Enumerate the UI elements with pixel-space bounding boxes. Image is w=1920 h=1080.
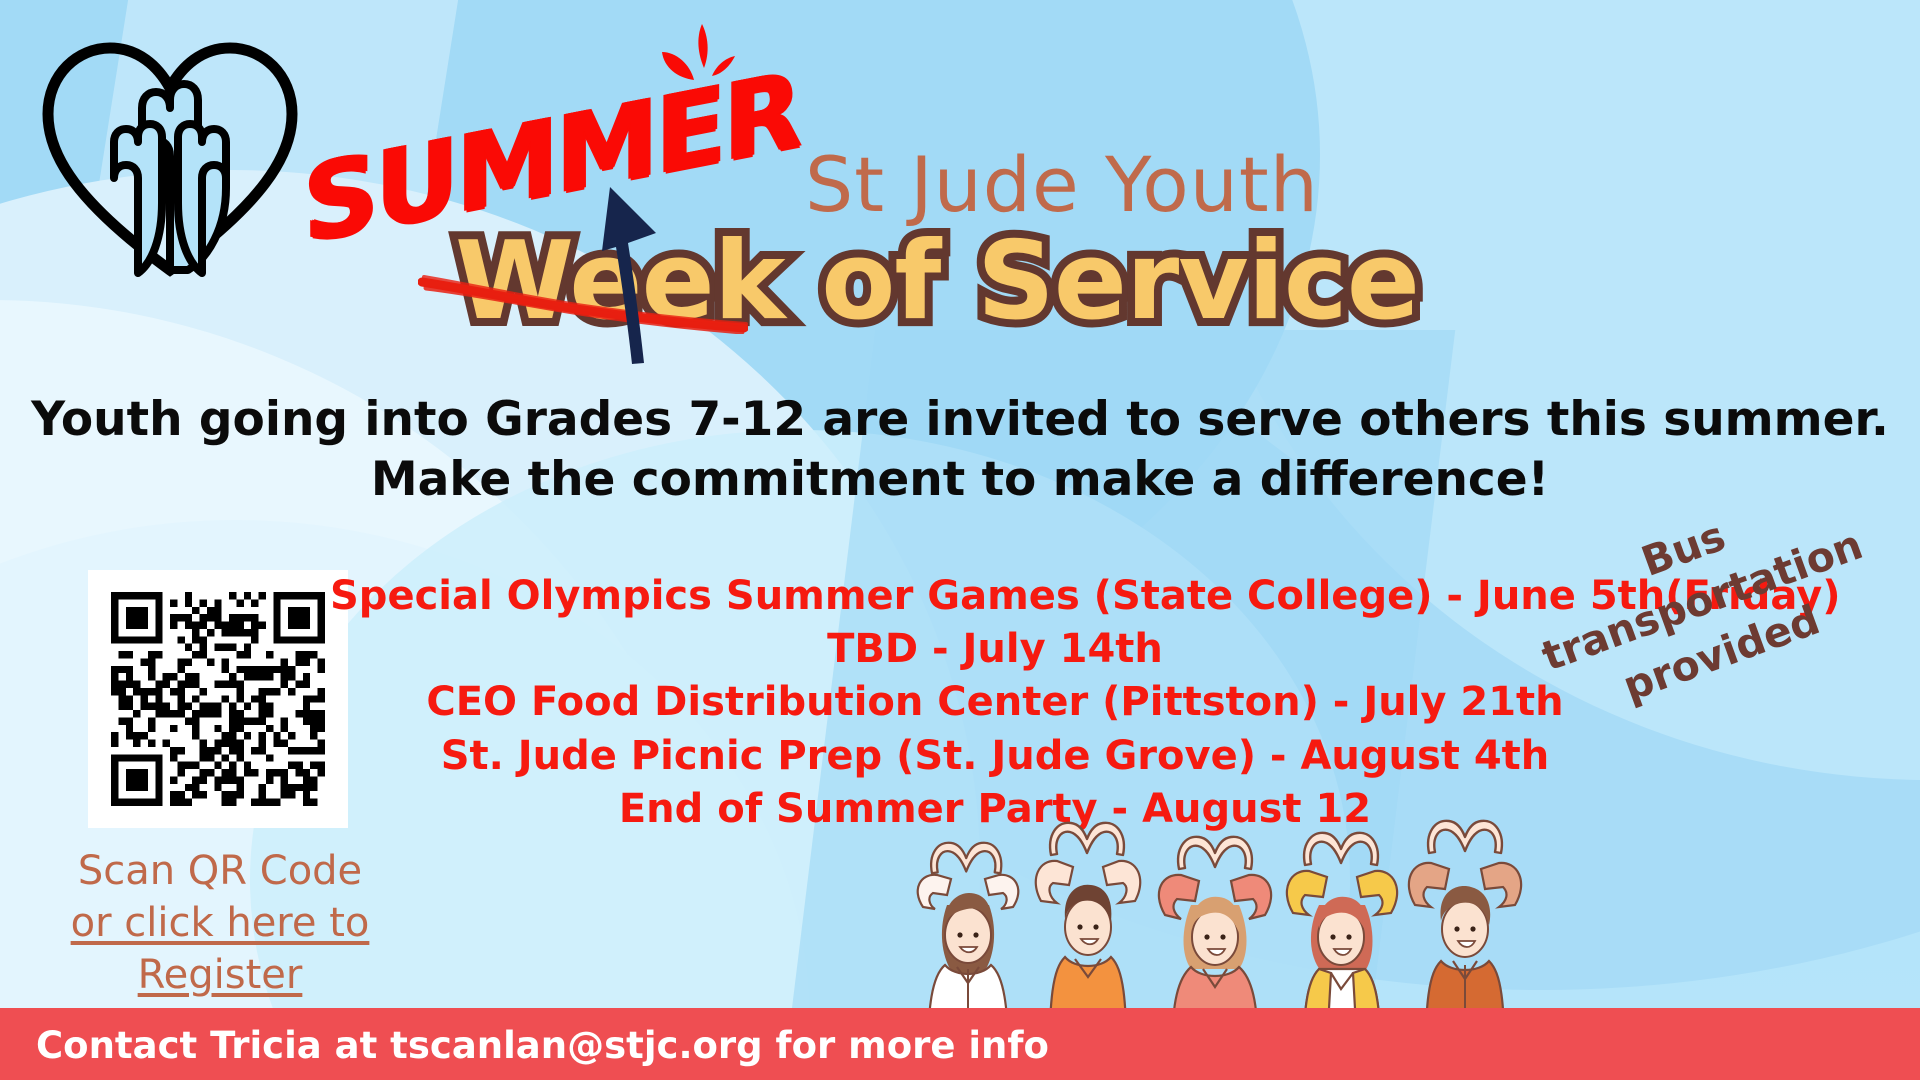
heart-with-raised-hands-icon (38, 38, 303, 278)
body-line-1: Youth going into Grades 7-12 are invited… (0, 390, 1920, 450)
page-title: Week of Service (455, 228, 1419, 336)
list-item: St. Jude Picnic Prep (St. Jude Grove) - … (330, 730, 1660, 783)
register-link-line-2[interactable]: Register (30, 949, 410, 1001)
list-item: Special Olympics Summer Games (State Col… (330, 570, 1660, 623)
list-item: CEO Food Distribution Center (Pittston) … (330, 676, 1660, 729)
organization-line: St Jude Youth (805, 140, 1319, 229)
qr-code-canvas[interactable] (111, 592, 325, 806)
contact-bar: Contact Tricia at tscanlan@stjc.org for … (0, 1008, 1920, 1080)
red-sparkle-splash-icon (640, 18, 760, 98)
register-link-line-1[interactable]: or click here to (30, 897, 410, 949)
contact-text: Contact Tricia at tscanlan@stjc.org for … (36, 1024, 1049, 1067)
event-list: Special Olympics Summer Games (State Col… (330, 570, 1660, 836)
flyer-poster: SUMMER St Jude Youth Week of Service You… (0, 0, 1920, 1080)
body-line-2: Make the commitment to make a difference… (0, 450, 1920, 510)
scan-qr-label: Scan QR Code (30, 845, 410, 897)
body-copy: Youth going into Grades 7-12 are invited… (0, 390, 1920, 510)
qr-caption: Scan QR Code or click here to Register (30, 845, 410, 1001)
qr-code-icon[interactable] (88, 570, 348, 828)
list-item: TBD - July 14th (330, 623, 1660, 676)
